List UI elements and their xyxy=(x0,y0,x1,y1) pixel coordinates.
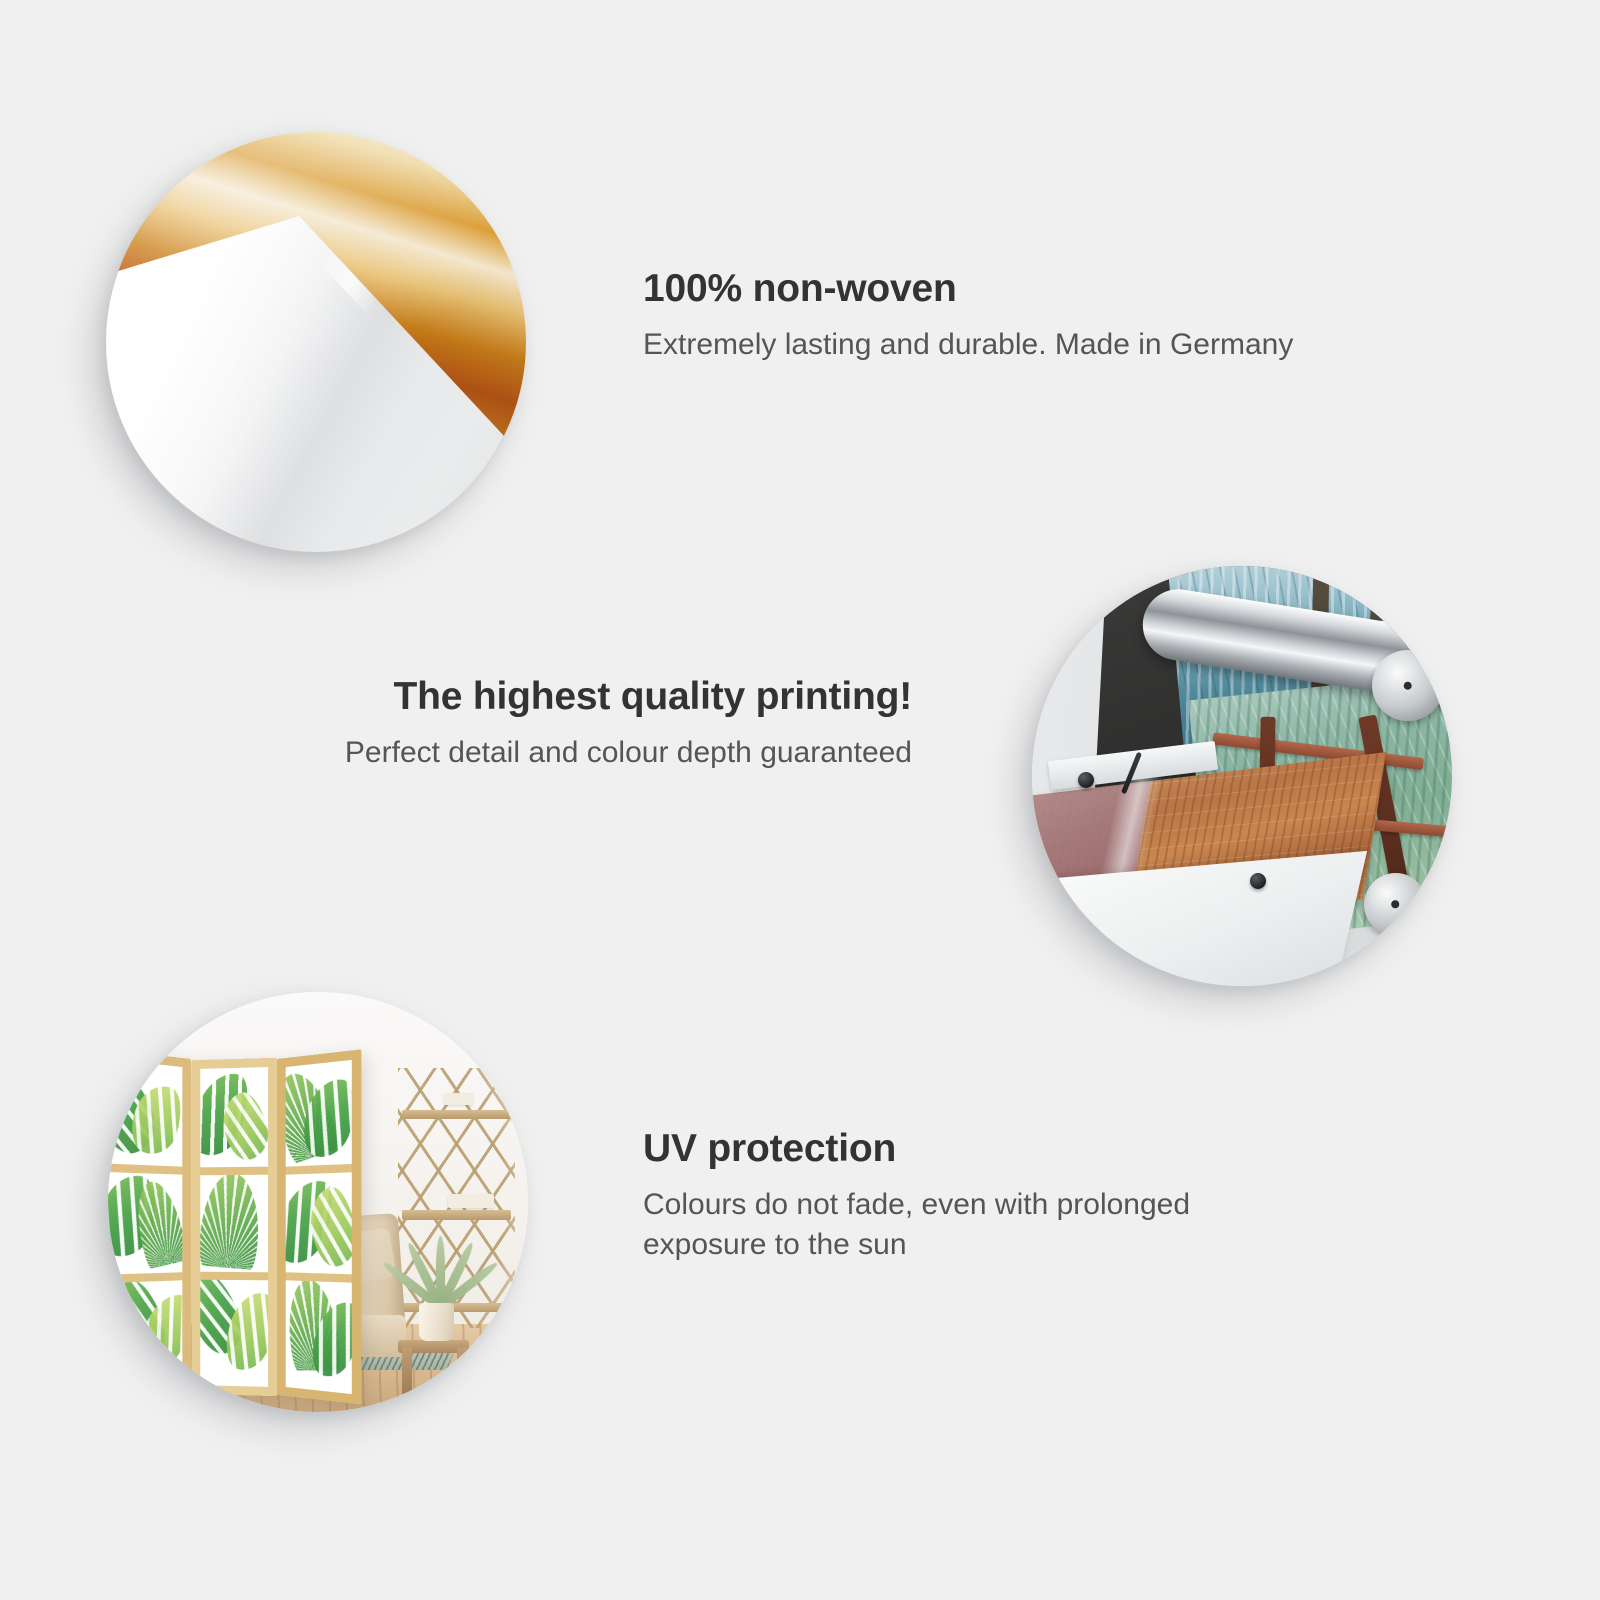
plant-pot xyxy=(419,1303,455,1341)
divider-panel xyxy=(191,1058,277,1396)
feature-body: Colours do not fade, even with prolonged… xyxy=(643,1185,1203,1265)
interior-room-divider-illustration xyxy=(108,992,528,1412)
printing-media-circle xyxy=(1032,566,1452,986)
press-knob[interactable] xyxy=(1078,772,1094,788)
divider-panel xyxy=(108,1049,191,1406)
feature-body: Perfect detail and colour depth guarante… xyxy=(232,733,912,773)
feature-heading: The highest quality printing! xyxy=(232,676,912,719)
feature-heading: UV protection xyxy=(643,1128,1203,1171)
feature-text-printing: The highest quality printing! Perfect de… xyxy=(232,676,912,773)
shelf-object xyxy=(448,1194,494,1209)
divider-panel xyxy=(277,1049,362,1404)
shelf-plank xyxy=(402,1210,511,1219)
roller-end-cap xyxy=(1372,650,1443,721)
tropical-leaf-print xyxy=(285,1060,351,1394)
shelf-object xyxy=(444,1093,473,1106)
infographic-canvas: 100% non-woven Extremely lasting and dur… xyxy=(0,0,1600,1600)
tropical-leaf-print xyxy=(200,1067,268,1387)
tropical-leaf-print xyxy=(108,1059,182,1395)
feature-text-non-woven: 100% non-woven Extremely lasting and dur… xyxy=(643,268,1323,365)
feature-body: Extremely lasting and durable. Made in G… xyxy=(643,325,1323,365)
palm-leaf xyxy=(198,1171,263,1270)
non-woven-media-circle xyxy=(106,132,526,552)
wallpaper-peel-illustration xyxy=(106,132,526,552)
roller-hub xyxy=(1404,681,1413,690)
folding-room-divider xyxy=(108,1059,360,1395)
roller-end-cap xyxy=(1364,873,1427,936)
shelf-plank xyxy=(402,1110,511,1119)
roller-hub xyxy=(1392,900,1400,908)
feature-heading: 100% non-woven xyxy=(643,268,1323,311)
side-table-leg xyxy=(457,1347,467,1397)
printing-press-illustration xyxy=(1032,566,1452,986)
feature-text-uv-protection: UV protection Colours do not fade, even … xyxy=(643,1128,1203,1265)
uv-protection-media-circle xyxy=(108,992,528,1412)
side-table-leg xyxy=(402,1347,412,1397)
